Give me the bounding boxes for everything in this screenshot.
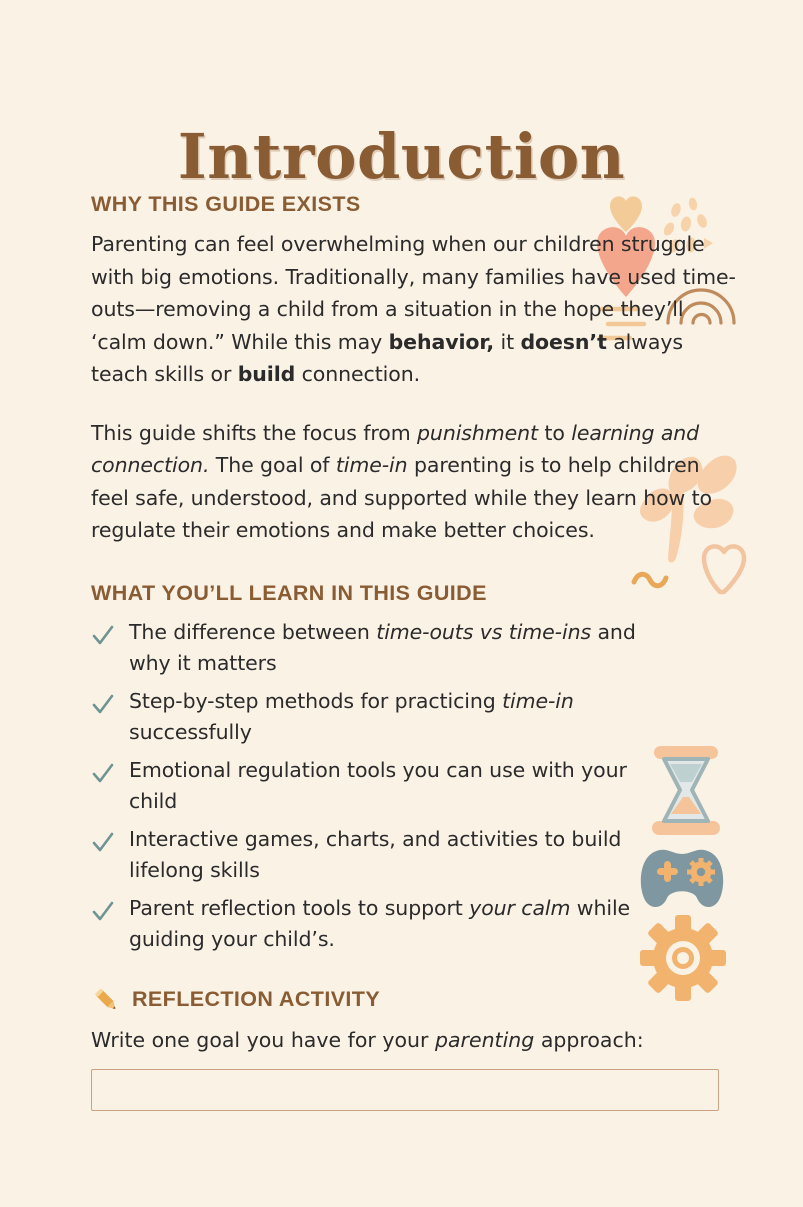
- reflection-prompt-part-1: Write one goal you have for your: [91, 1028, 435, 1052]
- list-item: Parent reflection tools to support your …: [91, 893, 741, 955]
- paragraph-why-2-part-3: The goal of: [209, 453, 335, 477]
- paragraph-why-2-part-2: to: [538, 421, 571, 445]
- list-item: Interactive games, charts, and activitie…: [91, 824, 741, 886]
- reflection-prompt-emphasis: parenting: [435, 1028, 534, 1052]
- paragraph-why-1-part-2: it: [494, 330, 520, 354]
- list-item-emphasis: your calm: [469, 896, 570, 920]
- page-title: Introduction: [0, 120, 803, 193]
- check-icon: [91, 830, 115, 856]
- list-item-part-1: Parent reflection tools to support: [129, 896, 469, 920]
- list-item-emphasis: time-in: [502, 689, 574, 713]
- list-item-part-1: Emotional regulation tools you can use w…: [129, 758, 627, 813]
- paragraph-why-1-part-4: connection.: [295, 362, 420, 386]
- list-item-text: Step-by-step methods for practicing time…: [129, 686, 674, 748]
- list-item-part-1: The difference between: [129, 620, 376, 644]
- list-item-part-2: successfully: [129, 720, 252, 744]
- paragraph-why-2: This guide shifts the focus from punishm…: [91, 417, 741, 547]
- list-item-part-1: Step-by-step methods for practicing: [129, 689, 502, 713]
- list-item: Step-by-step methods for practicing time…: [91, 686, 741, 748]
- reflection-heading-row: REFLECTION ACTIVITY: [91, 985, 741, 1015]
- list-item-text: The difference between time-outs vs time…: [129, 617, 674, 679]
- paragraph-why-1-emphasis-2: doesn’t: [520, 330, 606, 354]
- list-item-text: Parent reflection tools to support your …: [129, 893, 674, 955]
- content-column: WHY THIS GUIDE EXISTS Parenting can feel…: [91, 192, 741, 1111]
- paragraph-why-2-emphasis-3: time-in: [336, 453, 408, 477]
- reflection-activity-block: REFLECTION ACTIVITY Write one goal you h…: [91, 985, 741, 1111]
- paragraph-why-1-emphasis-1: behavior,: [389, 330, 494, 354]
- list-item-text: Emotional regulation tools you can use w…: [129, 755, 674, 817]
- list-item-part-1: Interactive games, charts, and activitie…: [129, 827, 621, 882]
- reflection-prompt-part-2: approach:: [534, 1028, 643, 1052]
- section-heading-why: WHY THIS GUIDE EXISTS: [91, 192, 741, 217]
- check-icon: [91, 899, 115, 925]
- introduction-page: Introduction: [0, 0, 803, 1207]
- reflection-prompt: Write one goal you have for your parenti…: [91, 1025, 741, 1055]
- list-item: The difference between time-outs vs time…: [91, 617, 741, 679]
- paragraph-why-1: Parenting can feel overwhelming when our…: [91, 228, 741, 391]
- check-icon: [91, 623, 115, 649]
- learn-checklist: The difference between time-outs vs time…: [91, 617, 741, 955]
- section-heading-learn: WHAT YOU’LL LEARN IN THIS GUIDE: [91, 581, 741, 606]
- check-icon: [91, 761, 115, 787]
- pencil-icon: [91, 985, 121, 1015]
- reflection-goal-input[interactable]: [91, 1069, 719, 1111]
- paragraph-why-2-part-1: This guide shifts the focus from: [91, 421, 417, 445]
- paragraph-why-2-emphasis-1: punishment: [417, 421, 538, 445]
- list-item-emphasis: time-outs vs time-ins: [376, 620, 591, 644]
- check-icon: [91, 692, 115, 718]
- reflection-heading: REFLECTION ACTIVITY: [132, 987, 380, 1012]
- list-item-text: Interactive games, charts, and activitie…: [129, 824, 674, 886]
- list-item: Emotional regulation tools you can use w…: [91, 755, 741, 817]
- paragraph-why-1-emphasis-3: build: [238, 362, 296, 386]
